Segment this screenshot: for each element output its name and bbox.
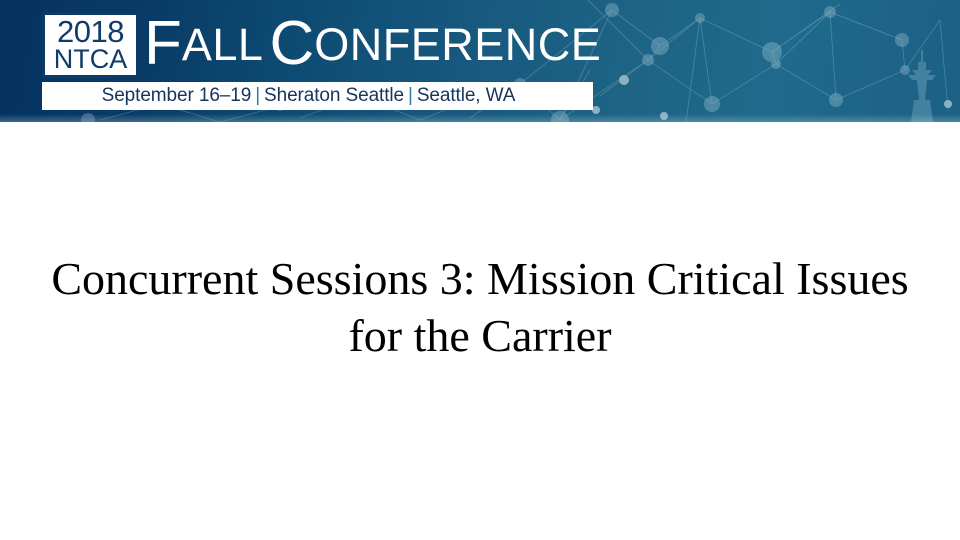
space-needle-silhouette <box>888 44 958 122</box>
slide-content-area: Concurrent Sessions 3: Mission Critical … <box>0 122 960 540</box>
ntca-logo-plate: 2018 NTCA <box>42 12 139 78</box>
conference-details-text: September 16–19|Sheraton Seattle|Seattle… <box>102 85 516 107</box>
conference-city: Seattle, WA <box>417 85 516 106</box>
conference-dates: September 16–19 <box>102 85 252 106</box>
wordmark-fall-cap: F <box>144 13 182 75</box>
wordmark-conference-rest: ONFERENCE <box>314 22 601 67</box>
slide-title: Concurrent Sessions 3: Mission Critical … <box>48 250 912 364</box>
slide-title-line-1: Concurrent Sessions 3: Mission Critical <box>51 253 784 304</box>
fall-conference-wordmark: FALLCONFERENCE <box>144 8 601 80</box>
presentation-slide: 2018 NTCA FALLCONFERENCE September 16–19… <box>0 0 960 540</box>
details-separator-2: | <box>404 85 417 106</box>
banner-bottom-fade <box>0 114 960 122</box>
conference-details-bar: September 16–19|Sheraton Seattle|Seattle… <box>42 82 593 110</box>
details-separator-1: | <box>251 85 264 106</box>
wordmark-fall-rest: ALL <box>182 22 264 67</box>
logo-organization: NTCA <box>54 47 128 73</box>
conference-venue: Sheraton Seattle <box>264 85 404 106</box>
conference-banner: 2018 NTCA FALLCONFERENCE September 16–19… <box>0 0 960 122</box>
wordmark-conference-cap: C <box>269 13 314 75</box>
logo-year: 2018 <box>57 17 124 47</box>
